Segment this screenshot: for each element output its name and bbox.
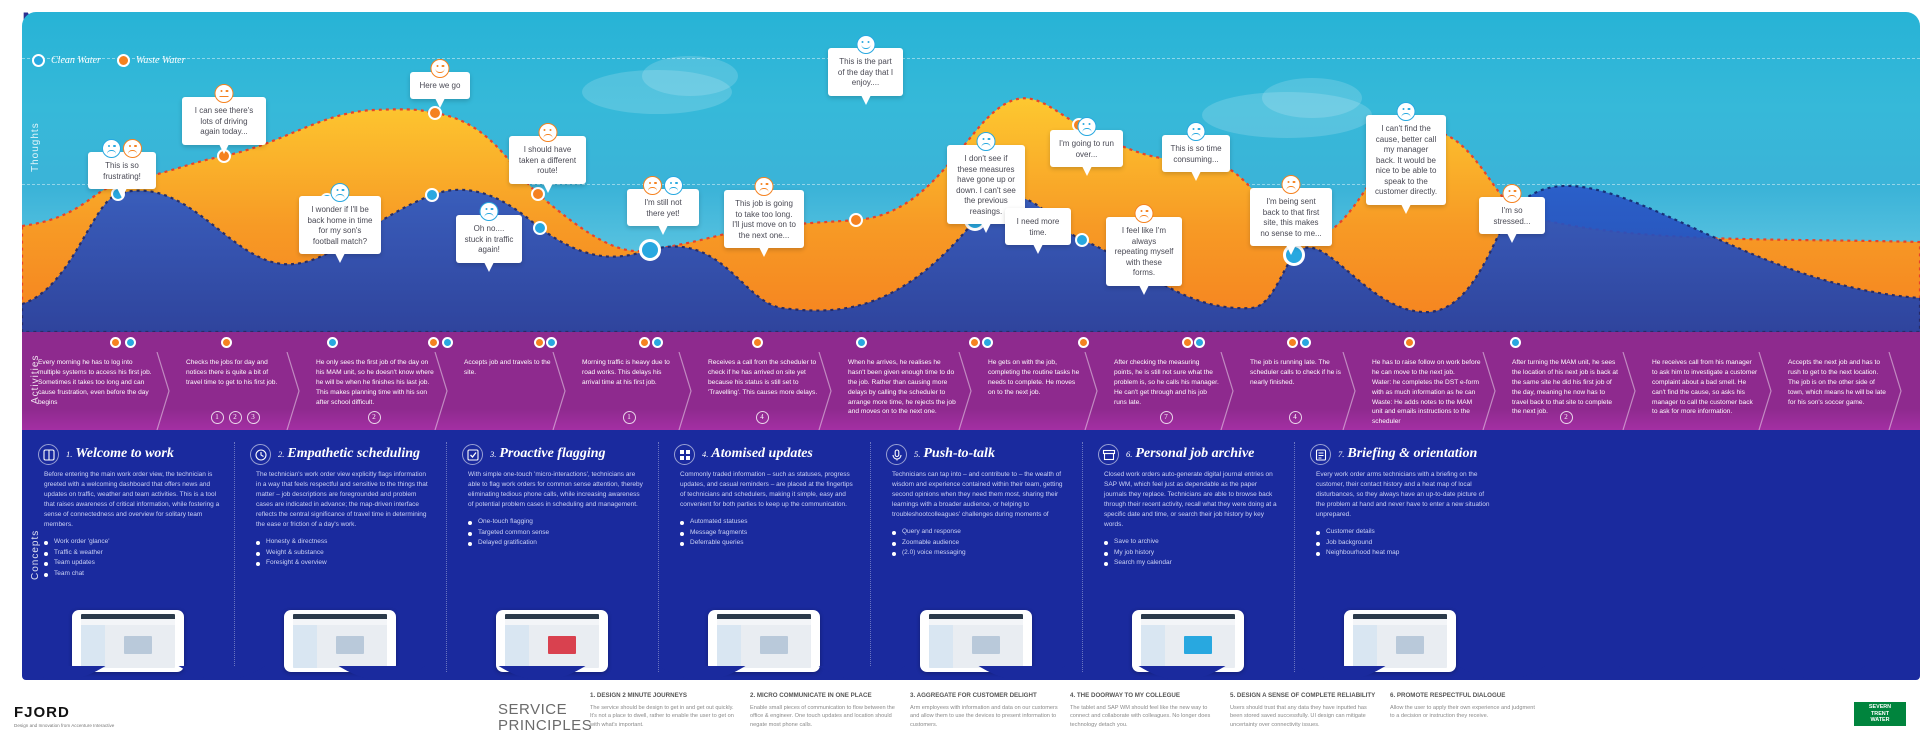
thought-bubble: Oh no.... stuck in traffic again!: [456, 215, 522, 263]
thought-bubble: Here we go: [410, 72, 470, 99]
curve-node-clean[interactable]: [425, 188, 439, 202]
bubble-tail-icon: [759, 247, 769, 257]
mouth-icon: [1287, 186, 1296, 190]
thought-bubble: I'm being sent back to that first site, …: [1250, 188, 1332, 246]
mouth-icon: [648, 187, 657, 191]
mouth-icon: [485, 213, 494, 217]
sad-face-icon: [1282, 175, 1301, 194]
bubble-text: I need more time.: [1017, 217, 1060, 237]
sad-face-icon: [1503, 184, 1522, 203]
bubble-tail-icon: [658, 225, 668, 235]
waste-water-dot-icon: [117, 54, 130, 67]
face-group: [643, 176, 683, 195]
bubble-tail-icon: [1286, 245, 1296, 255]
activity-text: The job is running late. The scheduler c…: [1250, 358, 1342, 388]
activity-badge[interactable]: 4: [1289, 411, 1302, 424]
concept-title: Proactive flagging: [499, 446, 605, 461]
service-principle-item: 4. THE DOORWAY TO MY COLLEGUEThe tablet …: [1070, 692, 1220, 729]
mouth-icon: [1402, 113, 1411, 117]
activity-marker-clean[interactable]: [856, 337, 867, 348]
sad-face-icon: [1077, 117, 1096, 136]
screen-accent: [1184, 636, 1212, 654]
thought-bubble: I'm going to run over...: [1050, 130, 1123, 167]
activity-badge[interactable]: 2: [1560, 411, 1573, 424]
concept-title: Welcome to work: [75, 446, 174, 461]
activity-marker-waste[interactable]: [221, 337, 232, 348]
mouth-icon: [982, 143, 991, 147]
mouth-icon: [1082, 128, 1091, 132]
tablet-screen: [717, 614, 811, 668]
legend-item-waste: Waste Water: [117, 54, 186, 67]
thought-bubble: I'm still not there yet!: [627, 189, 699, 226]
concept-number: 5.: [914, 449, 920, 459]
activity-marker-waste[interactable]: [639, 337, 650, 348]
list-item: Team chat: [44, 569, 220, 579]
face-group: [1135, 204, 1154, 223]
activity-text: When he arrives, he realises he hasn't b…: [848, 358, 958, 417]
bubble-text: I'm so stressed...: [1494, 206, 1531, 226]
concept-divider: [870, 442, 871, 672]
thought-bubble: I need more time.: [1005, 208, 1071, 245]
activity-text: Morning traffic is heavy due to road wor…: [582, 358, 678, 388]
concept-feature-list: Customer detailsJob backgroundNeighbourh…: [1316, 527, 1492, 558]
bubble-text: I'm being sent back to that first site, …: [1260, 197, 1321, 238]
tablet-mockup[interactable]: [920, 610, 1032, 672]
bubble-tail-icon: [543, 183, 553, 193]
footer: FJORD Design and Innovation from Accentu…: [0, 690, 1920, 745]
face-group: [1282, 175, 1301, 194]
concept-header: 2.Empathetic scheduling: [250, 444, 432, 465]
badge-group: 4: [692, 411, 832, 424]
bubble-tail-icon: [219, 144, 229, 154]
face-group: [1503, 184, 1522, 203]
curve-node-waste[interactable]: [428, 106, 442, 120]
bubble-tail-icon: [1139, 285, 1149, 295]
client-line3: WATER: [1870, 717, 1889, 723]
concept-header: 3.Proactive flagging: [462, 444, 644, 465]
activity-badge[interactable]: 1: [211, 411, 224, 424]
bubble-tail-icon: [1507, 233, 1517, 243]
activity-text: Receives a call from the scheduler to ch…: [708, 358, 818, 398]
tablet-screen: [293, 614, 387, 668]
concept-feature-list: One-touch flaggingTargeted common senseD…: [468, 517, 644, 548]
axis-label-activities: Activities: [30, 355, 41, 404]
concept-card-7: 7.Briefing & orientationEvery work order…: [1294, 436, 1506, 680]
activity-marker-clean[interactable]: [1300, 337, 1311, 348]
legend-label-waste: Waste Water: [136, 55, 186, 66]
face-group: [538, 123, 557, 142]
concept-number: 3.: [490, 449, 496, 459]
concept-body: Commonly traded information – such as st…: [680, 470, 856, 510]
service-principle-item: 3. AGGREGATE FOR CUSTOMER DELIGHTArm emp…: [910, 692, 1060, 729]
activity-marker-clean[interactable]: [327, 337, 338, 348]
bubble-text: This is so frustrating!: [103, 161, 141, 181]
thought-bubble: This job is going to take too long. I'll…: [724, 190, 804, 248]
activity-text: He has to raise follow on work before he…: [1372, 358, 1482, 427]
activities-band: Activities Every morning he has to log i…: [22, 332, 1920, 430]
sad-face-icon: [1187, 122, 1206, 141]
axis-label-concepts: Concepts: [30, 530, 41, 580]
thought-bubble: I can see there's lots of driving again …: [182, 97, 266, 145]
list-item: Search my calendar: [1104, 558, 1280, 568]
concept-title: Atomised updates: [711, 446, 813, 461]
flat-face-icon: [215, 84, 234, 103]
sad-face-icon: [1397, 102, 1416, 121]
activity-text: Accepts the next job and has to rush to …: [1788, 358, 1888, 407]
list-item: Neighbourhood heat map: [1316, 548, 1492, 558]
bubble-text: I wonder if I'll be back home in time fo…: [308, 205, 373, 246]
concept-card-3: 3.Proactive flaggingWith simple one-touc…: [446, 436, 658, 680]
screen-accent: [1396, 636, 1424, 654]
tablet-mockup[interactable]: [708, 610, 820, 672]
legend-item-clean: Clean Water: [32, 54, 101, 67]
activity-marker-waste[interactable]: [1078, 337, 1089, 348]
list-item: Team updates: [44, 558, 220, 568]
activity-marker-clean[interactable]: [1510, 337, 1521, 348]
concept-body: With simple one-touch 'micro-interaction…: [468, 470, 644, 510]
sp-title-line2: PRINCIPLES: [498, 718, 592, 734]
activity-marker-clean[interactable]: [1194, 337, 1205, 348]
badge-group: 2: [1496, 411, 1636, 424]
activity-marker-group: [22, 332, 1920, 354]
activity-badge[interactable]: 3: [247, 411, 260, 424]
face-group: [431, 59, 450, 78]
activity-text: Every morning he has to log into multipl…: [38, 358, 156, 407]
bubble-text: This job is going to take too long. I'll…: [732, 199, 796, 240]
bubble-tail-icon: [435, 98, 445, 108]
activity-cell: He has to raise follow on work before he…: [1356, 352, 1496, 430]
bubble-tail-icon: [484, 262, 494, 272]
mouth-icon: [220, 96, 229, 97]
chevron-separator-icon: [1757, 352, 1773, 430]
tablet-mockup[interactable]: [496, 610, 608, 672]
screen-sidebar: [293, 625, 317, 668]
mouth-icon: [107, 150, 116, 154]
bubble-text: Oh no.... stuck in traffic again!: [465, 224, 514, 254]
sad-face-icon: [643, 176, 662, 195]
concept-feature-list: Save to archiveMy job historySearch my c…: [1104, 537, 1280, 568]
sad-face-icon: [102, 139, 121, 158]
legend-label-clean: Clean Water: [51, 55, 101, 66]
screen-accent: [124, 636, 152, 654]
activity-cell-group: Every morning he has to log into multipl…: [22, 352, 1920, 430]
concept-feature-list: Honesty & directnessWeight & substanceFo…: [256, 537, 432, 568]
curve-node-clean[interactable]: [533, 221, 547, 235]
activity-cell: When he arrives, he realises he hasn't b…: [832, 352, 972, 430]
activity-text: After checking the measuring points, he …: [1114, 358, 1220, 407]
concept-title: Empathetic scheduling: [287, 446, 420, 461]
service-principle-item: 5. DESIGN A SENSE OF COMPLETE RELIABILIT…: [1230, 692, 1380, 729]
concept-feature-list: Automated statusesMessage fragmentsDefer…: [680, 517, 856, 548]
list-item: My job history: [1104, 548, 1280, 558]
concept-body: Technicians can tap into – and contribut…: [892, 470, 1068, 520]
list-item: Save to archive: [1104, 537, 1280, 547]
service-principles-list: 1. DESIGN 2 MINUTE JOURNEYSThe service s…: [590, 692, 1820, 729]
mouth-icon: [336, 194, 345, 198]
sad-face-icon: [538, 123, 557, 142]
sad-face-icon: [331, 183, 350, 202]
activity-marker-waste[interactable]: [428, 337, 439, 348]
activity-marker-waste[interactable]: [969, 337, 980, 348]
face-group: [1397, 102, 1416, 121]
list-item: Traffic & weather: [44, 548, 220, 558]
list-item: Zoomable audience: [892, 538, 1068, 548]
thought-bubble: This is the part of the day that I enjoy…: [828, 48, 903, 96]
tablet-mockup[interactable]: [284, 610, 396, 672]
concept-title: Personal job archive: [1135, 446, 1254, 461]
activity-marker-waste[interactable]: [1404, 337, 1415, 348]
bubble-text: This is so time consuming...: [1170, 144, 1221, 164]
concept-card-6: 6.Personal job archiveClosed work orders…: [1082, 436, 1294, 680]
face-group: [856, 35, 875, 54]
thought-bubble: I feel like I'm always repeating myself …: [1106, 217, 1182, 286]
mouth-icon: [669, 187, 678, 191]
face-group: [331, 183, 350, 202]
activity-cell: He receives call from his manager to ask…: [1636, 352, 1772, 430]
activity-text: After turning the MAM unit, he sees the …: [1512, 358, 1622, 417]
activity-badge[interactable]: 4: [756, 411, 769, 424]
list-item: Work order 'glance': [44, 537, 220, 547]
activity-cell: Morning traffic is heavy due to road wor…: [566, 352, 692, 430]
sad-face-icon: [480, 202, 499, 221]
thought-bubble: I should have taken a different route!: [509, 136, 586, 184]
activity-text: He receives call from his manager to ask…: [1652, 358, 1758, 417]
principle-body: Users should trust that any data they ha…: [1230, 704, 1380, 729]
service-principle-item: 6. PROMOTE RESPECTFUL DIALOGUEAllow the …: [1390, 692, 1540, 729]
concept-number: 1.: [66, 449, 72, 459]
journey-map-poster: NON-INFRA JOURNEY MAP Thoughts: [0, 0, 1920, 745]
chevron-separator-icon: [155, 352, 171, 430]
concept-number: 4.: [702, 449, 708, 459]
concept-header: 7.Briefing & orientation: [1310, 444, 1492, 465]
chevron-separator-icon: [551, 352, 567, 430]
concept-card-4: 4.Atomised updatesCommonly traded inform…: [658, 436, 870, 680]
activity-marker-clean[interactable]: [442, 337, 453, 348]
bubble-tail-icon: [1401, 204, 1411, 214]
bubble-text: I should have taken a different route!: [519, 145, 576, 175]
principle-heading: 2. MICRO COMMUNICATE IN ONE PLACE: [750, 692, 900, 700]
badge-group: 2: [300, 411, 448, 424]
fjord-logo: FJORD Design and Innovation from Accentu…: [14, 704, 114, 729]
screen-sidebar: [81, 625, 105, 668]
activity-marker-clean[interactable]: [982, 337, 993, 348]
badge-group: 123: [170, 411, 300, 424]
activity-cell: The job is running late. The scheduler c…: [1234, 352, 1356, 430]
sad-face-icon: [977, 132, 996, 151]
bubble-text: I'm going to run over...: [1059, 139, 1114, 159]
activity-badge[interactable]: 7: [1160, 411, 1173, 424]
principle-body: The service should be design to get in a…: [590, 704, 740, 729]
activity-marker-waste[interactable]: [1182, 337, 1193, 348]
concept-number: 7.: [1338, 449, 1344, 459]
fjord-wordmark: FJORD: [14, 704, 114, 721]
grid-icon: [674, 444, 695, 465]
activity-cell: After checking the measuring points, he …: [1098, 352, 1234, 430]
bubble-text: Here we go: [420, 81, 461, 90]
bubble-text: I feel like I'm always repeating myself …: [1115, 226, 1174, 277]
mouth-icon: [760, 188, 769, 192]
sad-face-icon: [664, 176, 683, 195]
face-group: [755, 177, 774, 196]
face-group: [480, 202, 499, 221]
face-group: [1077, 117, 1096, 136]
activity-marker-waste[interactable]: [1287, 337, 1298, 348]
bubble-text: I'm still not there yet!: [644, 198, 682, 218]
curve-node-clean[interactable]: [639, 239, 661, 261]
principle-body: Allow the user to apply their own experi…: [1390, 704, 1540, 721]
tablet-screen: [81, 614, 175, 668]
activity-text: Checks the jobs for day and notices ther…: [186, 358, 286, 388]
list-item: Delayed gratification: [468, 538, 644, 548]
bubble-tail-icon: [117, 188, 127, 198]
concept-divider: [1082, 442, 1083, 672]
list-item: Weight & substance: [256, 548, 432, 558]
happy-face-icon: [856, 35, 875, 54]
bubble-tail-icon: [335, 253, 345, 263]
list-item: Job background: [1316, 538, 1492, 548]
bubble-tail-icon: [1191, 171, 1201, 181]
concept-header: 1.Welcome to work: [38, 444, 220, 465]
mouth-icon: [436, 69, 445, 73]
concept-card-2: 2.Empathetic schedulingThe technician's …: [234, 436, 446, 680]
screen-accent: [336, 636, 364, 654]
activity-text: Accepts job and travels to the site.: [464, 358, 552, 378]
sad-face-icon: [755, 177, 774, 196]
service-principles-title: SERVICE PRINCIPLES: [498, 702, 592, 734]
screen-accent: [548, 636, 576, 654]
concept-divider: [1294, 442, 1295, 672]
curve-node-waste[interactable]: [849, 213, 863, 227]
bubble-tail-icon: [861, 95, 871, 105]
thought-bubble: This is so frustrating!: [88, 152, 156, 189]
dashboard-icon: [38, 444, 59, 465]
mouth-icon: [1508, 195, 1517, 199]
activity-marker-clean[interactable]: [546, 337, 557, 348]
activity-cell: Receives a call from the scheduler to ch…: [692, 352, 832, 430]
concept-title: Briefing & orientation: [1347, 446, 1477, 461]
chevron-separator-icon: [957, 352, 973, 430]
principle-body: Enable small pieces of communication to …: [750, 704, 900, 729]
tablet-screen: [505, 614, 599, 668]
tablet-mockup[interactable]: [72, 610, 184, 672]
face-group: [1187, 122, 1206, 141]
concept-card-5: 5.Push-to-talkTechnicians can tap into –…: [870, 436, 1082, 680]
chevron-separator-icon: [1887, 352, 1903, 430]
tablet-screen: [1353, 614, 1447, 668]
bubble-text: I can see there's lots of driving again …: [195, 106, 253, 136]
concept-feature-list: Work order 'glance'Traffic & weatherTeam…: [44, 537, 220, 579]
tablet-mockup[interactable]: [1132, 610, 1244, 672]
thought-bubble: I can't find the cause, better call my m…: [1366, 115, 1446, 205]
tablet-screen: [1141, 614, 1235, 668]
activity-marker-waste[interactable]: [534, 337, 545, 348]
badge-group: 7: [1098, 411, 1234, 424]
concept-feature-list: Query and responseZoomable audience(2.0)…: [892, 527, 1068, 558]
activity-cell: Every morning he has to log into multipl…: [22, 352, 170, 430]
screen-sidebar: [717, 625, 741, 668]
list-item: (2.0) voice messaging: [892, 548, 1068, 558]
bubble-tail-icon: [1033, 244, 1043, 254]
sad-face-icon: [123, 139, 142, 158]
thought-bubble: This is so time consuming...: [1162, 135, 1230, 172]
activity-cell: Checks the jobs for day and notices ther…: [170, 352, 300, 430]
tablet-mockup[interactable]: [1344, 610, 1456, 672]
principle-heading: 6. PROMOTE RESPECTFUL DIALOGUE: [1390, 692, 1540, 700]
service-principle-item: 1. DESIGN 2 MINUTE JOURNEYSThe service s…: [590, 692, 740, 729]
mouth-icon: [861, 45, 870, 49]
briefing-icon: [1310, 444, 1331, 465]
concepts-band: Concepts 1.Welcome to workBefore enterin…: [22, 430, 1920, 680]
activity-text: He only sees the first job of the day on…: [316, 358, 434, 407]
activity-cell: He gets on with the job, completing the …: [972, 352, 1098, 430]
activity-marker-clean[interactable]: [652, 337, 663, 348]
screen-sidebar: [1141, 625, 1165, 668]
list-item: Customer details: [1316, 527, 1492, 537]
list-item: Query and response: [892, 527, 1068, 537]
chevron-separator-icon: [1083, 352, 1099, 430]
activity-marker-clean[interactable]: [125, 337, 136, 348]
check-icon: [462, 444, 483, 465]
concept-title: Push-to-talk: [923, 446, 995, 461]
concept-divider: [658, 442, 659, 672]
curve-node-clean[interactable]: [1075, 233, 1089, 247]
activity-marker-waste[interactable]: [752, 337, 763, 348]
activity-cell: He only sees the first job of the day on…: [300, 352, 448, 430]
list-item: One-touch flagging: [468, 517, 644, 527]
sp-title-line1: SERVICE: [498, 702, 592, 718]
archive-icon: [1098, 444, 1119, 465]
bubble-text: This is the part of the day that I enjoy…: [838, 57, 893, 87]
list-item: Foresight & overview: [256, 558, 432, 568]
list-item: Automated statuses: [680, 517, 856, 527]
chevron-separator-icon: [1481, 352, 1497, 430]
activity-badge[interactable]: 2: [229, 411, 242, 424]
principle-heading: 3. AGGREGATE FOR CUSTOMER DELIGHT: [910, 692, 1060, 700]
face-group: [977, 132, 996, 151]
mouth-icon: [1192, 133, 1201, 137]
activity-cell: Accepts job and travels to the site.: [448, 352, 566, 430]
face-group: [215, 84, 234, 103]
list-item: Targeted common sense: [468, 528, 644, 538]
badge-group: 4: [1234, 411, 1356, 424]
mouth-icon: [543, 134, 552, 138]
concept-divider: [234, 442, 235, 672]
service-principle-item: 2. MICRO COMMUNICATE IN ONE PLACEEnable …: [750, 692, 900, 729]
bubble-tail-icon: [1082, 166, 1092, 176]
concept-body: Every work order arms technicians with a…: [1316, 470, 1492, 520]
list-item: Honesty & directness: [256, 537, 432, 547]
clock-icon: [250, 444, 271, 465]
activity-text: He gets on with the job, completing the …: [988, 358, 1084, 398]
activity-badge[interactable]: 2: [368, 411, 381, 424]
principle-body: Arm employees with information and data …: [910, 704, 1060, 729]
clean-water-dot-icon: [32, 54, 45, 67]
activity-marker-waste[interactable]: [110, 337, 121, 348]
activity-cell: Accepts the next job and has to rush to …: [1772, 352, 1902, 430]
concept-number: 2.: [278, 449, 284, 459]
bubble-text: I can't find the cause, better call my m…: [1375, 124, 1437, 196]
concept-body: The technician's work order view explici…: [256, 470, 432, 530]
happy-face-icon: [431, 59, 450, 78]
concept-card-1: 1.Welcome to workBefore entering the mai…: [22, 436, 234, 680]
screen-accent: [972, 636, 1000, 654]
principle-heading: 5. DESIGN A SENSE OF COMPLETE RELIABILIT…: [1230, 692, 1380, 700]
concept-card-group: 1.Welcome to workBefore entering the mai…: [22, 436, 1920, 680]
activity-badge[interactable]: 1: [623, 411, 636, 424]
fjord-tagline: Design and Innovation from Accenture Int…: [14, 723, 114, 729]
concept-header: 4.Atomised updates: [674, 444, 856, 465]
sad-face-icon: [1135, 204, 1154, 223]
